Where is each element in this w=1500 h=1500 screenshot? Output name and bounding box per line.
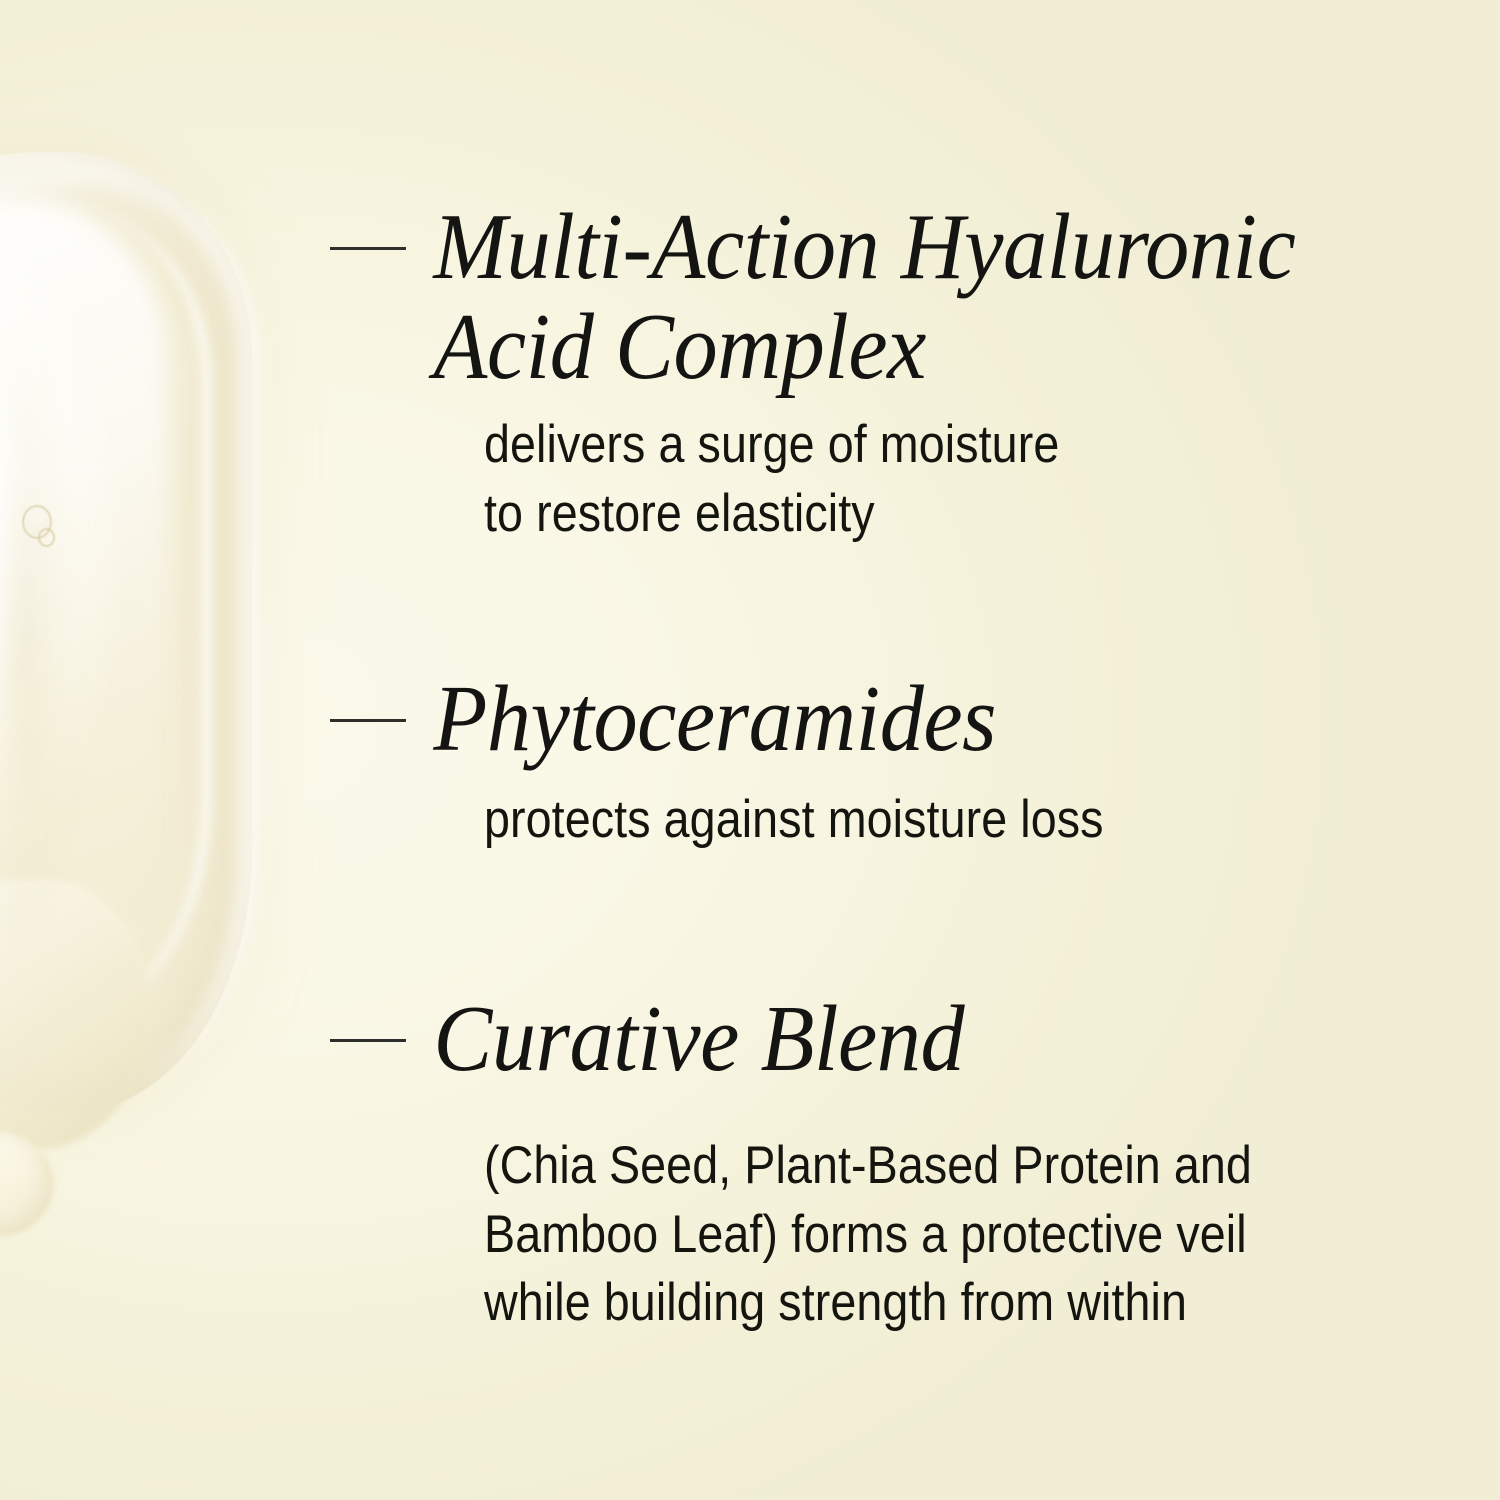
product-benefits-panel: Multi-Action Hyaluronic Acid Complex del…	[0, 0, 1500, 1500]
benefit-item-1: Multi-Action Hyaluronic Acid Complex del…	[330, 198, 1390, 549]
cream-blob-tail	[0, 880, 150, 1150]
cream-blob-highlight	[0, 196, 170, 956]
benefit-heading: Multi-Action Hyaluronic Acid Complex	[330, 198, 1326, 397]
cream-blob-shadow	[10, 300, 130, 1000]
benefit-description: (Chia Seed, Plant-Based Protein and Bamb…	[330, 1090, 1263, 1339]
benefit-heading: Curative Blend	[330, 990, 1326, 1090]
benefit-item-2: Phytoceramides protects against moisture…	[330, 670, 1390, 855]
cream-blob-streak	[0, 553, 110, 577]
benefit-item-3: Curative Blend (Chia Seed, Plant-Based P…	[330, 990, 1390, 1338]
cream-swatch-artwork	[0, 0, 340, 1500]
cream-blob-body	[0, 152, 252, 1112]
benefit-description: protects against moisture loss	[330, 770, 1263, 855]
benefit-heading: Phytoceramides	[330, 670, 1326, 770]
cream-blob-bubble	[38, 528, 55, 547]
cream-droplet	[0, 1132, 54, 1236]
cream-blob-streak	[0, 636, 100, 653]
cream-blob-streak	[0, 457, 150, 495]
benefits-list: Multi-Action Hyaluronic Acid Complex del…	[330, 0, 1410, 1500]
cream-blob-rim-light-inner	[0, 200, 211, 1020]
cream-blob-bubble	[22, 505, 52, 539]
benefit-description: delivers a surge of moisture to restore …	[330, 397, 1263, 549]
cream-blob-rim-light	[0, 170, 256, 1091]
